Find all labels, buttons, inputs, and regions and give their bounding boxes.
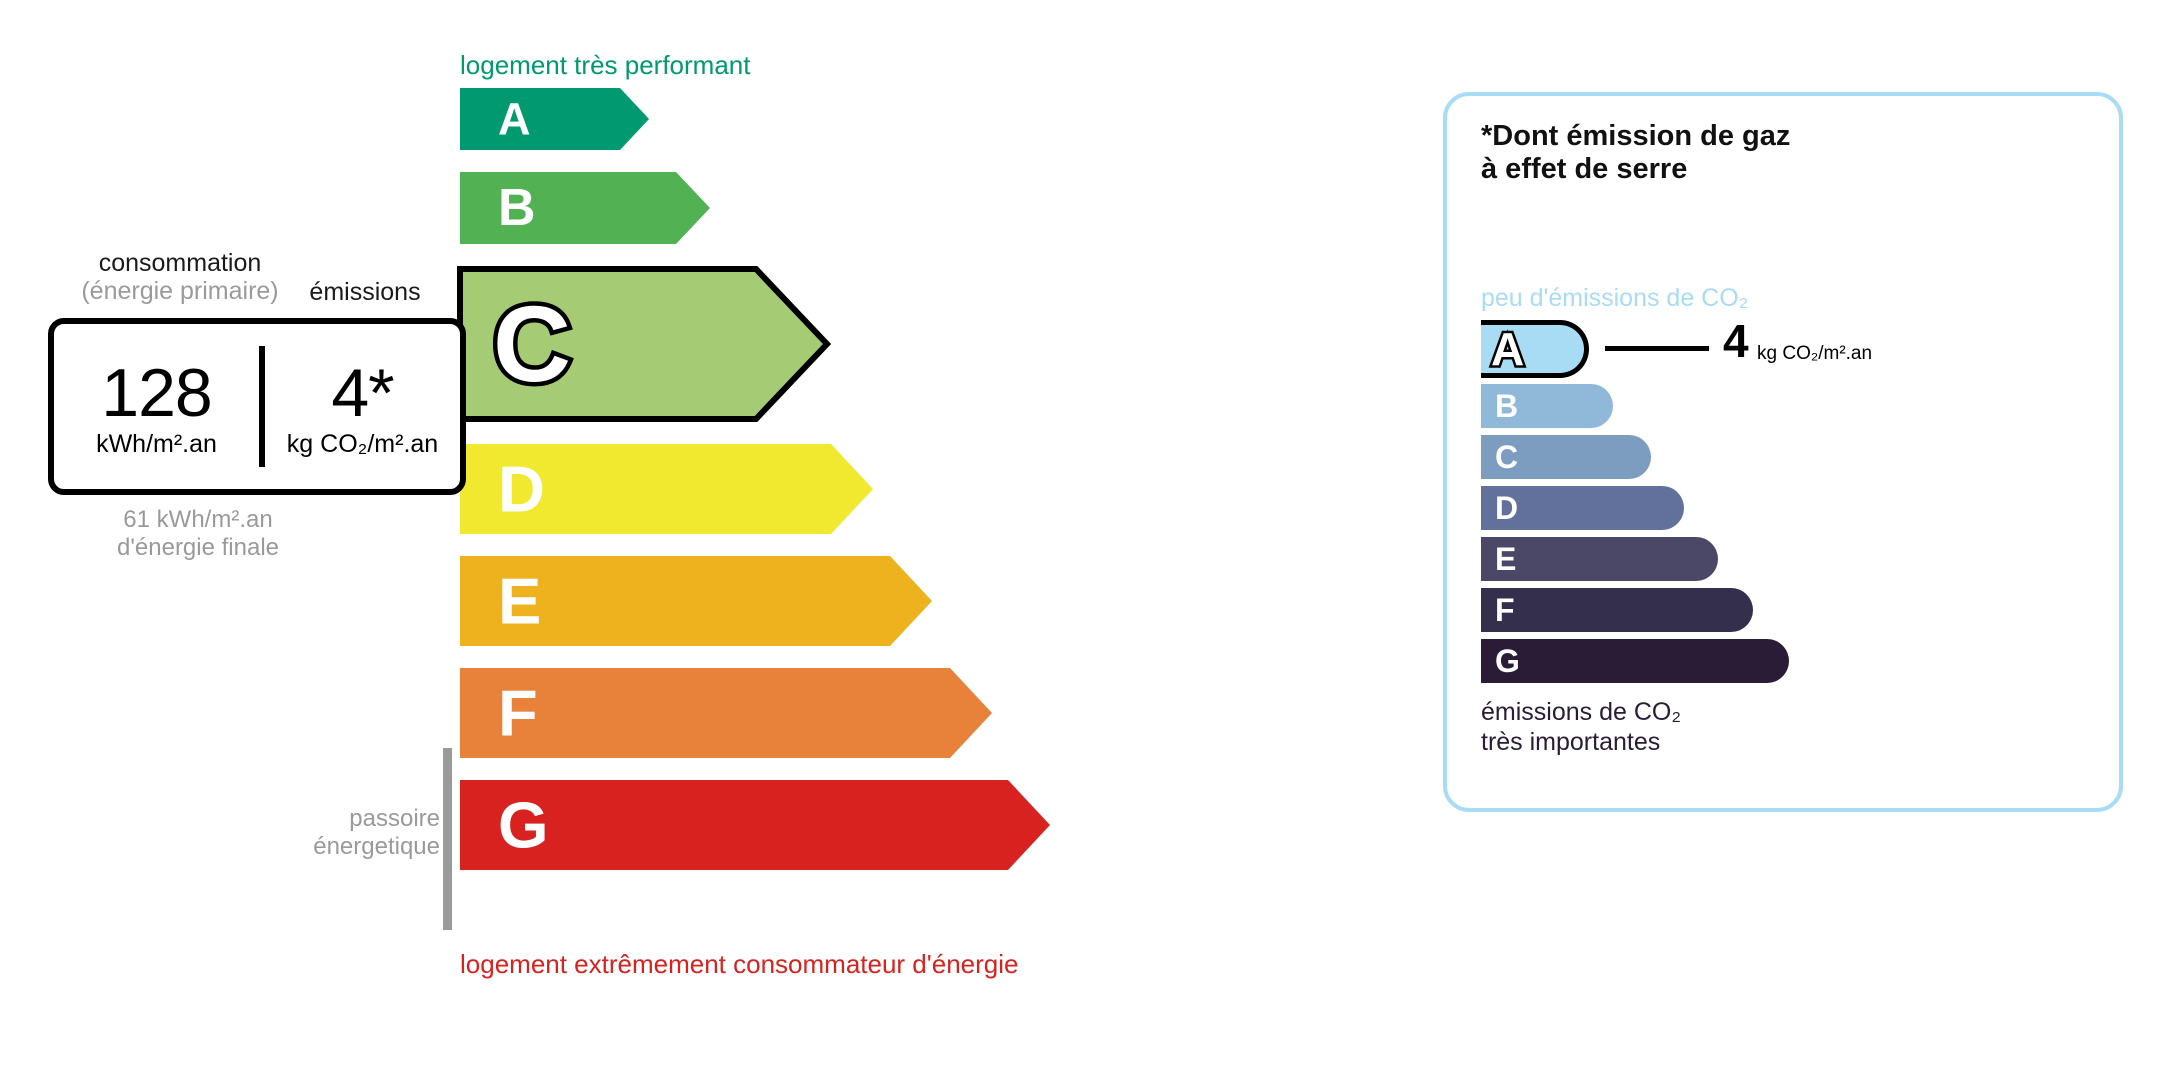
co2-caption-top: peu d'émissions de CO₂: [1481, 286, 1748, 311]
co2-class-bar-f: F: [1481, 588, 2101, 632]
energy-class-bar-d: D: [460, 444, 873, 534]
co2-pill-g: [1481, 639, 1789, 683]
consumption-unit: kWh/m².an: [96, 432, 217, 457]
value-box: 128 kWh/m².an 4* kg CO₂/m².an: [48, 318, 466, 495]
co2-value-unit: kg CO₂/m².an: [1757, 344, 1872, 363]
co2-pill-e: [1481, 537, 1718, 581]
energy-class-bar-e: E: [460, 556, 932, 646]
emissions-value: 4*: [331, 362, 393, 425]
co2-caption-bottom-line-2: très importantes: [1481, 728, 1681, 758]
co2-class-bar-a: A4kg CO₂/m².an: [1481, 320, 2101, 378]
energy-class-bars: ABCDEFG: [0, 0, 1400, 1079]
co2-class-letter-a: A: [1491, 326, 1524, 372]
energy-class-bar-b: B: [460, 172, 710, 244]
co2-class-letter-b: B: [1495, 390, 1518, 422]
co2-class-letter-e: E: [1495, 543, 1516, 575]
co2-caption-bottom: émissions de CO₂ très importantes: [1481, 698, 1681, 757]
consumption-value-cell: 128 kWh/m².an: [54, 324, 259, 489]
consumption-value: 128: [101, 362, 211, 425]
co2-class-bar-g: G: [1481, 639, 2101, 683]
co2-caption-bottom-line-1: émissions de CO₂: [1481, 698, 1681, 728]
energy-class-bar-g: G: [460, 780, 1050, 870]
co2-class-letter-f: F: [1495, 594, 1515, 626]
co2-class-bar-d: D: [1481, 486, 2101, 530]
energy-caption-bottom: logement extrêmement consommateur d'éner…: [460, 951, 1018, 977]
co2-panel: *Dont émission de gaz à effet de serre p…: [1443, 92, 2123, 812]
co2-title-line-1: *Dont émission de gaz: [1481, 120, 1790, 153]
co2-class-letter-d: D: [1495, 492, 1518, 524]
co2-panel-title: *Dont émission de gaz à effet de serre: [1481, 120, 1790, 187]
dpe-energy-label: logement très performant consommation (é…: [0, 0, 2169, 1079]
co2-pill-f: [1481, 588, 1753, 632]
co2-class-bars: A4kg CO₂/m².anBCDEFG: [1481, 320, 2101, 690]
energy-class-bar-f: F: [460, 668, 992, 758]
emissions-unit: kg CO₂/m².an: [287, 432, 438, 457]
energy-class-bar-a: A: [460, 88, 649, 150]
emissions-value-cell: 4* kg CO₂/m².an: [265, 324, 460, 489]
co2-class-letter-g: G: [1495, 645, 1520, 677]
co2-class-letter-c: C: [1495, 441, 1518, 473]
co2-title-line-2: à effet de serre: [1481, 153, 1790, 186]
energy-class-bar-c: C: [457, 266, 830, 422]
co2-class-bar-e: E: [1481, 537, 2101, 581]
co2-leader-line: [1605, 346, 1709, 351]
co2-class-bar-b: B: [1481, 384, 2101, 428]
co2-value: 4: [1723, 318, 1749, 364]
energy-performance-panel: logement très performant consommation (é…: [0, 0, 1400, 1079]
co2-class-bar-c: C: [1481, 435, 2101, 479]
